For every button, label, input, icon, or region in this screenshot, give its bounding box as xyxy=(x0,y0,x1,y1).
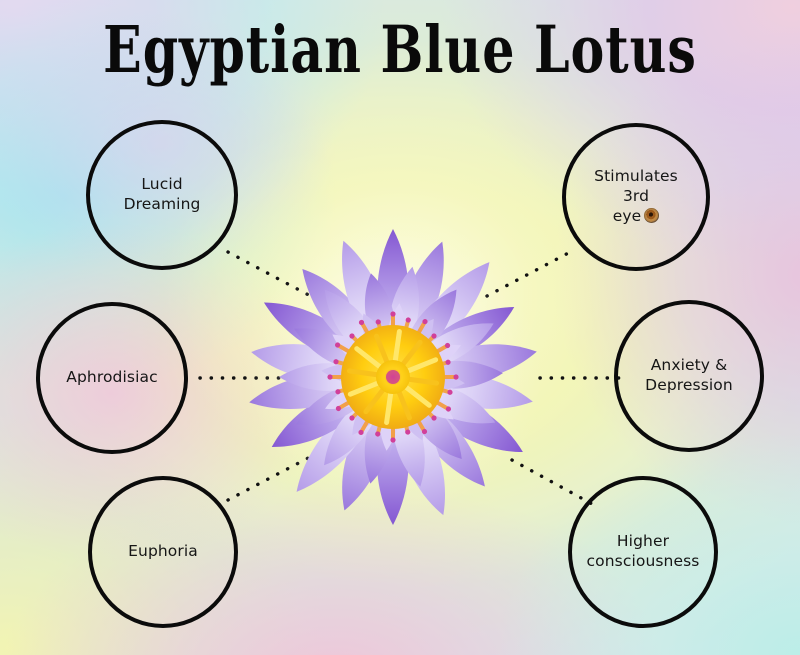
benefit-label-lucid-dreaming: Lucid Dreaming xyxy=(90,175,234,215)
benefit-label-anxiety-depression: Anxiety & Depression xyxy=(629,356,749,396)
benefit-label-higher-consciousness: Higher consciousness xyxy=(571,532,716,572)
lotus-core-center xyxy=(386,370,400,384)
benefit-bubble-stimulates-3rd-eye[interactable]: Stimulates 3rd eye xyxy=(562,123,710,271)
blue-lotus-flower xyxy=(243,229,543,525)
benefit-bubble-higher-consciousness[interactable]: Higher consciousness xyxy=(568,476,718,628)
benefit-label-stimulates-3rd-eye: Stimulates 3rd eye xyxy=(566,167,706,226)
benefit-label-euphoria: Euphoria xyxy=(112,542,214,562)
benefit-bubble-anxiety-depression[interactable]: Anxiety & Depression xyxy=(614,300,764,452)
eye-icon xyxy=(644,208,659,223)
benefit-bubble-euphoria[interactable]: Euphoria xyxy=(88,476,238,628)
poster-canvas: Egyptian Blue Lotus xyxy=(0,0,800,655)
benefit-bubble-aphrodisiac[interactable]: Aphrodisiac xyxy=(36,302,188,454)
benefit-bubble-lucid-dreaming[interactable]: Lucid Dreaming xyxy=(86,120,238,270)
connector-higher-consciousness xyxy=(512,460,594,505)
benefit-label-aphrodisiac: Aphrodisiac xyxy=(50,368,173,388)
